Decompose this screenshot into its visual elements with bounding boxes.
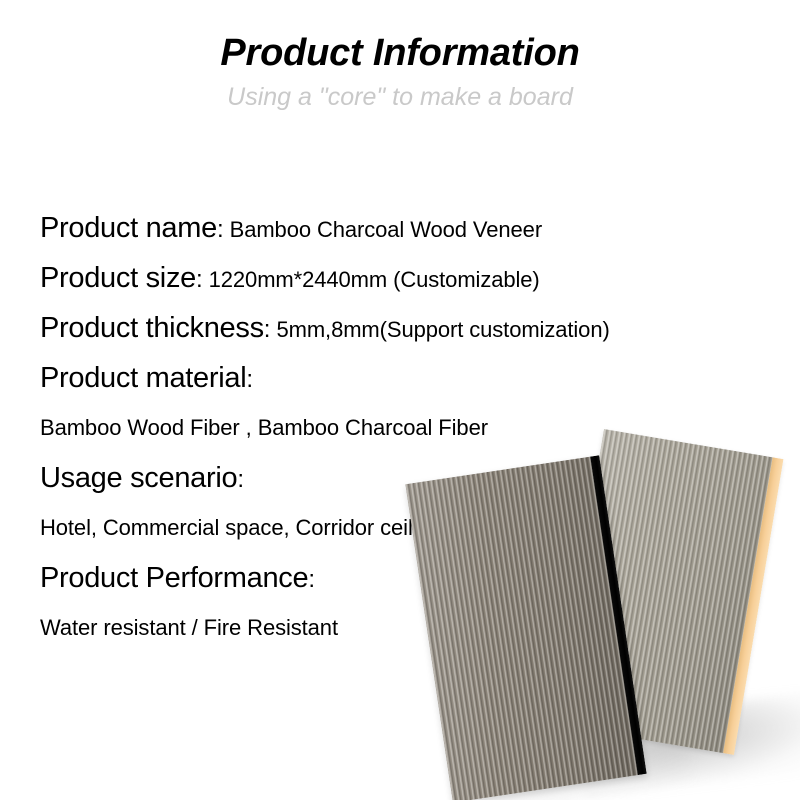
spec-label: Product size (40, 262, 196, 294)
spec-colon: : (237, 466, 244, 493)
page-header: Product Information Using a "core" to ma… (0, 34, 800, 111)
spec-row-product-material: Product material: (40, 353, 760, 403)
spec-row-product-thickness: Product thickness:5mm,8mm(Support custom… (40, 303, 760, 353)
spec-value: 1220mm*2440mm (Customizable) (203, 267, 540, 292)
spec-label: Product name (40, 212, 217, 244)
spec-label: Product thickness (40, 312, 264, 344)
page-subtitle: Using a "core" to make a board (0, 84, 800, 112)
spec-colon: : (217, 216, 224, 243)
product-information-page: Product Information Using a "core" to ma… (0, 0, 800, 800)
spec-value: Bamboo Charcoal Wood Veneer (224, 217, 542, 242)
spec-row-product-size: Product size:1220mm*2440mm (Customizable… (40, 253, 760, 303)
product-photo (400, 420, 800, 800)
spec-label: Product Performance (40, 562, 308, 594)
spec-label: Usage scenario (40, 462, 237, 494)
spec-label: Product material (40, 362, 246, 394)
page-title: Product Information (0, 34, 800, 74)
spec-colon: : (196, 266, 203, 293)
spec-value: 5mm,8mm(Support customization) (270, 317, 609, 342)
spec-colon: : (246, 366, 253, 393)
spec-row-product-name: Product name:Bamboo Charcoal Wood Veneer (40, 203, 760, 253)
spec-colon: : (308, 566, 315, 593)
